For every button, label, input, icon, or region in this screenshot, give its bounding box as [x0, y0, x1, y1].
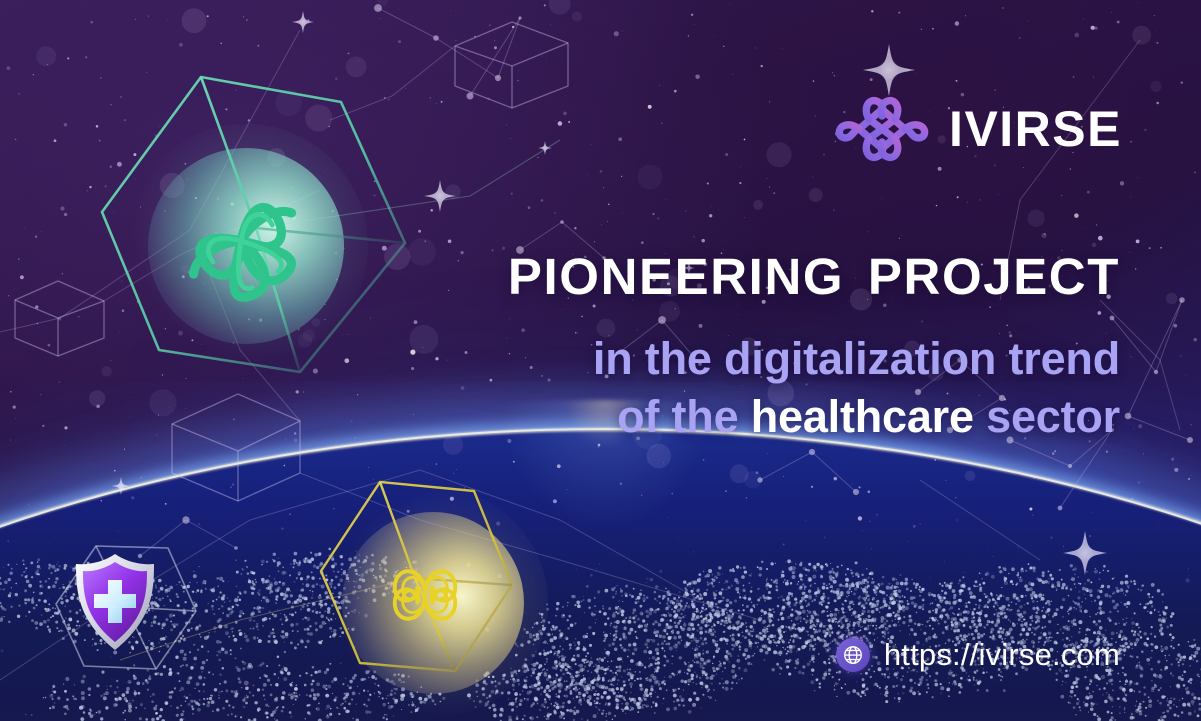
subtitle-line-2: of the healthcare sector [440, 388, 1120, 446]
subtitle-line-1: in the digitalization trend [440, 330, 1120, 388]
website-url: https://ivirse.com [884, 637, 1120, 673]
brand-name: IVIRSE [949, 104, 1122, 154]
website-link[interactable]: https://ivirse.com [836, 637, 1120, 673]
banner-canvas: IVIRSE PIONEERING PROJECT in the digital… [0, 0, 1201, 721]
ivirse-endless-knot-logo-icon [833, 88, 931, 170]
ivirse-knot-green-icon [165, 165, 317, 317]
page-subtitle: in the digitalization trend of the healt… [440, 330, 1120, 445]
subtitle-line2-after: sector [974, 391, 1120, 442]
subtitle-line2-before: of the [617, 391, 751, 442]
content-column: IVIRSE PIONEERING PROJECT in the digital… [470, 0, 1170, 721]
brand-lockup: IVIRSE [833, 88, 1122, 170]
page-title: PIONEERING PROJECT [460, 250, 1120, 303]
globe-icon [836, 638, 870, 672]
subtitle-highlight: healthcare [751, 391, 974, 442]
medical-shield-icon [72, 552, 158, 652]
